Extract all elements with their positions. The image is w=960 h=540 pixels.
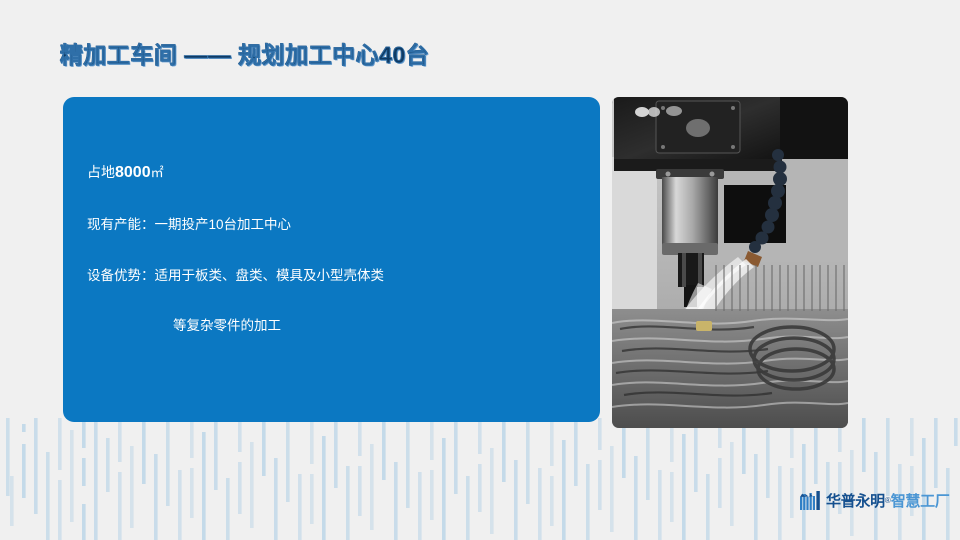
- vertical-bars-icon: [0, 418, 960, 540]
- card-line-area: 占地8000㎡: [87, 165, 584, 181]
- card-line-area-prefix: 占地: [87, 164, 115, 180]
- cnc-machine-photo-illustration: [612, 97, 848, 428]
- card-line-area-value: 8000: [115, 164, 151, 181]
- logo-company-name: 华普永明: [826, 490, 885, 511]
- page-title: 精加工车间 —— 规划加工中心40台: [60, 36, 429, 70]
- logo-product-name: 智慧工厂: [891, 490, 950, 511]
- card-line-area-unit: ㎡: [151, 165, 164, 180]
- brand-logo: 华普永明 ® 智慧工厂: [800, 489, 950, 511]
- card-line-capacity: 现有产能：一期投产10台加工中心: [87, 218, 584, 232]
- machining-center-photo: [612, 97, 848, 428]
- building-bars-icon: [800, 491, 821, 510]
- info-card-body: 占地8000㎡ 现有产能：一期投产10台加工中心 设备优势：适用于板类、盘类、模…: [87, 165, 584, 333]
- decorative-bars-pattern: [0, 418, 960, 540]
- slide-root: 精加工车间 —— 规划加工中心40台 占地8000㎡ 现有产能：一期投产10台加…: [0, 0, 960, 540]
- card-line-advantage-cont: 等复杂零件的加工: [87, 319, 584, 333]
- info-card: 占地8000㎡ 现有产能：一期投产10台加工中心 设备优势：适用于板类、盘类、模…: [63, 97, 600, 422]
- card-line-advantage: 设备优势：适用于板类、盘类、模具及小型壳体类: [87, 269, 584, 283]
